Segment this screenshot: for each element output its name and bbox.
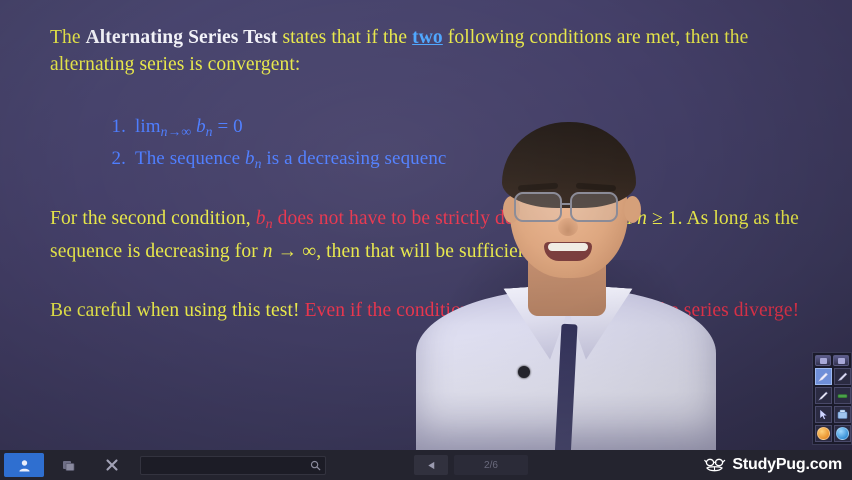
eyeglasses-bridge <box>562 203 572 205</box>
brand-logo[interactable]: StudyPug.com <box>704 456 842 474</box>
presenter-mouth <box>544 242 592 261</box>
intro-part2: states that if the <box>277 27 412 48</box>
pen-icon <box>836 370 849 383</box>
panel-option-1-button[interactable] <box>815 355 831 366</box>
intro-paragraph: The Alternating Series Test states that … <box>50 24 820 78</box>
panel-option-1-icon <box>820 358 827 364</box>
pencil-tool-button[interactable] <box>815 387 832 404</box>
condition-1-number: 1. <box>110 113 126 145</box>
annotation-tools-panel[interactable] <box>812 352 852 445</box>
condition-1-tail: = 0 <box>217 116 242 137</box>
condition-2-number: 2. <box>110 145 126 177</box>
eyeglasses-lens-left <box>514 192 562 222</box>
search-box[interactable] <box>140 456 326 475</box>
eyeglasses-lens-right <box>570 192 618 222</box>
careful-yellow: Be careful when using this test! <box>50 300 300 321</box>
color-blue-button[interactable] <box>834 425 851 442</box>
highlighter-tool-button[interactable] <box>815 368 832 385</box>
player-bottom-bar[interactable]: 2/6 StudyPug.com <box>0 450 852 480</box>
condition-2-varsub: n <box>255 156 262 171</box>
blue-color-swatch-icon <box>836 427 849 440</box>
pen-tool-button[interactable] <box>834 368 851 385</box>
eraser-icon <box>836 389 849 402</box>
close-button[interactable] <box>92 453 132 477</box>
user-button[interactable] <box>4 453 44 477</box>
second-yellow-lead: For the second condition, <box>50 208 256 229</box>
eraser-tool-button[interactable] <box>834 387 851 404</box>
panel-option-2-icon <box>838 358 845 364</box>
highlighter-icon <box>817 370 830 383</box>
pencil-icon <box>817 389 830 402</box>
cursor-arrow-icon <box>817 408 830 421</box>
tool-grid <box>815 368 849 442</box>
previous-page-button[interactable] <box>414 455 448 475</box>
close-icon <box>105 458 119 472</box>
second-red-var: b <box>256 208 266 229</box>
orange-color-swatch-icon <box>817 427 830 440</box>
layers-button[interactable] <box>48 453 88 477</box>
previous-triangle-icon <box>426 460 437 471</box>
cursor-tool-button[interactable] <box>815 406 832 423</box>
intro-part1: The <box>50 27 86 48</box>
condition-1-varsub: n <box>206 124 213 139</box>
layers-icon <box>61 458 76 473</box>
video-player-stage: The Alternating Series Test states that … <box>0 0 852 480</box>
lapel-microphone <box>518 366 530 378</box>
condition-2-text: The sequence <box>135 148 245 169</box>
search-icon <box>310 460 321 471</box>
two-link[interactable]: two <box>412 27 443 48</box>
presenter-ear-right <box>624 196 641 223</box>
search-input[interactable] <box>145 460 310 471</box>
presenter-teeth <box>548 243 588 251</box>
presenter-nose <box>558 218 578 236</box>
second-limit-var: n <box>263 241 273 262</box>
brand-name: StudyPug.com <box>732 456 842 474</box>
pug-logo-icon <box>704 456 726 474</box>
condition-1-body: limn→∞ bn = 0 <box>135 113 243 145</box>
color-orange-button[interactable] <box>815 425 832 442</box>
page-indicator: 2/6 <box>454 455 528 475</box>
presenter-video-overlay <box>398 110 728 450</box>
condition-1-variable: b <box>196 116 206 137</box>
panel-options-row <box>815 355 849 366</box>
condition-1-subscript: n→∞ <box>161 124 192 139</box>
second-limit-arrow: → ∞ <box>273 241 317 262</box>
second-red-varsub: n <box>266 216 273 232</box>
stamp-tool-button[interactable] <box>834 406 851 423</box>
intro-emphasis: Alternating Series Test <box>86 27 278 48</box>
condition-2-variable: b <box>245 148 255 169</box>
stamp-icon <box>836 408 849 421</box>
panel-option-2-button[interactable] <box>833 355 849 366</box>
user-icon <box>17 458 32 473</box>
condition-1-text: lim <box>135 116 161 137</box>
